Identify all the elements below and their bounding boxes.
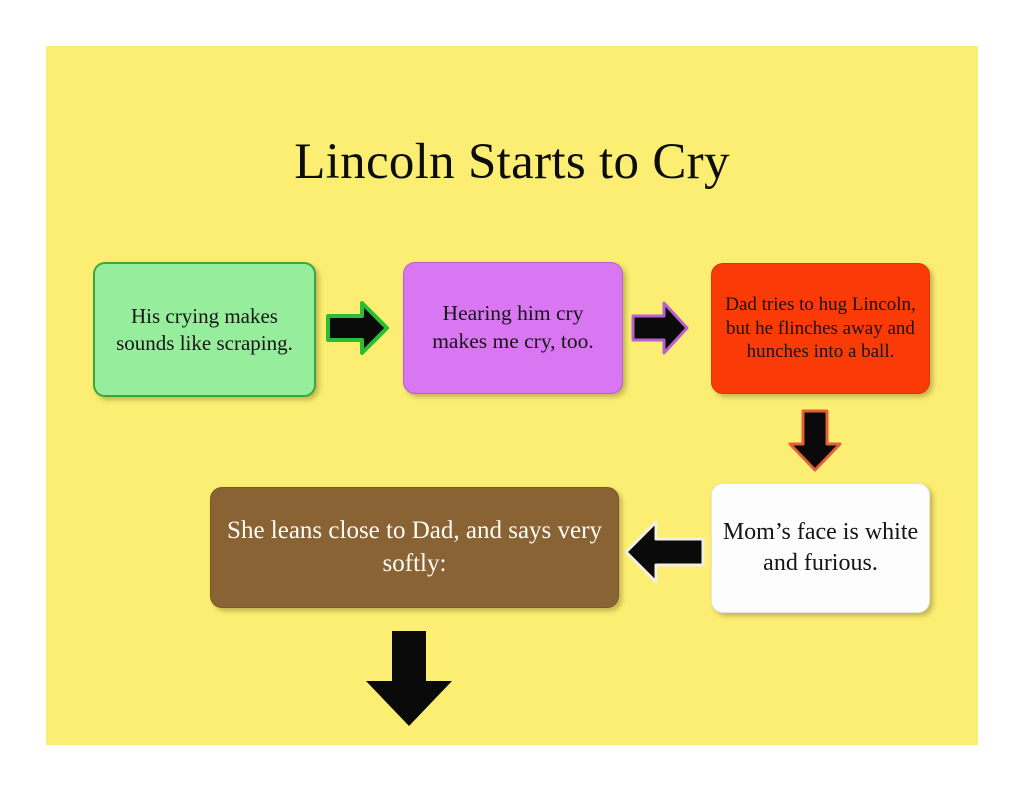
flow-box-brown-label: She leans close to Dad, and says very so… <box>221 515 608 580</box>
arrow-right-icon-purple-to-red <box>628 296 692 360</box>
arrow-down-icon-red-to-white <box>781 406 849 476</box>
flow-box-red-label: Dad tries to hug Lincoln, but he flinche… <box>722 293 919 364</box>
flow-box-purple-label: Hearing him cry makes me cry, too. <box>414 300 612 356</box>
arrow-left-icon-white-to-brown <box>620 513 708 591</box>
flow-box-brown[interactable]: She leans close to Dad, and says very so… <box>210 487 619 608</box>
flow-box-green-label: His crying makes sounds like scraping. <box>105 303 304 357</box>
slide-canvas: Lincoln Starts to Cry His crying makes s… <box>0 0 1024 791</box>
flow-box-red[interactable]: Dad tries to hug Lincoln, but he flinche… <box>711 263 930 394</box>
arrow-right-icon-green-to-purple <box>323 296 393 360</box>
arrow-down-icon-brown-outgoing <box>359 626 459 731</box>
flow-box-white-label: Mom’s face is white and furious. <box>722 517 919 578</box>
flow-box-purple[interactable]: Hearing him cry makes me cry, too. <box>403 262 623 394</box>
page-title: Lincoln Starts to Cry <box>46 134 978 190</box>
flow-box-white[interactable]: Mom’s face is white and furious. <box>711 483 930 613</box>
flow-box-green[interactable]: His crying makes sounds like scraping. <box>93 262 316 397</box>
slide-background: Lincoln Starts to Cry His crying makes s… <box>46 46 978 745</box>
